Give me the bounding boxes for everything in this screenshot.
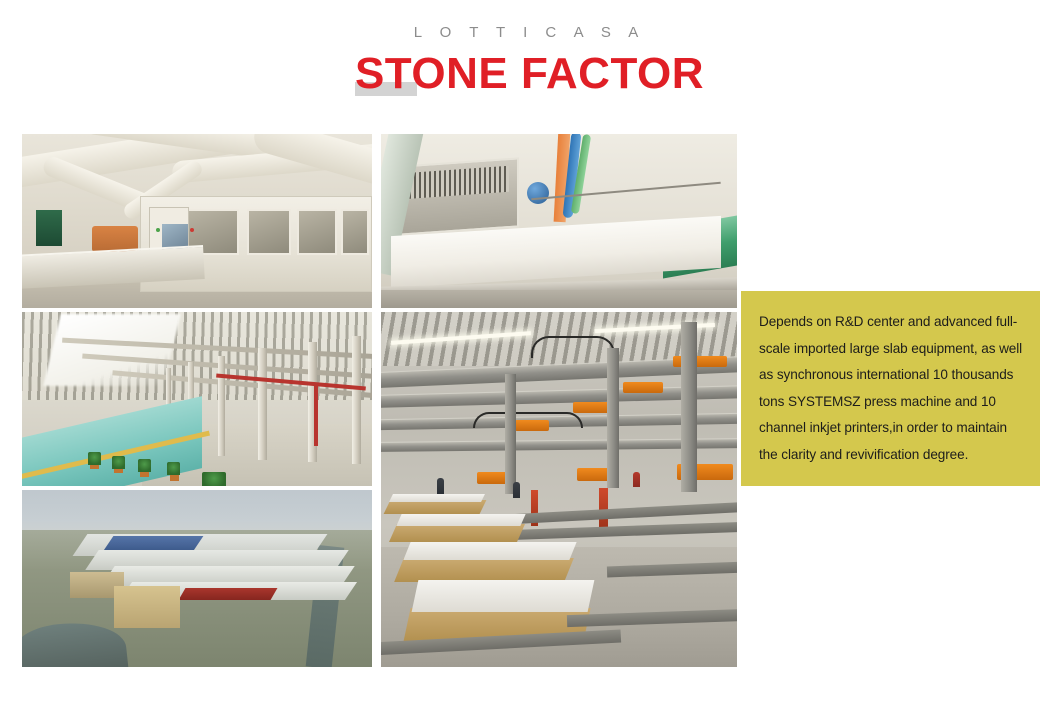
photo-factory-hall-scene xyxy=(22,312,372,486)
photo-slab-conveyor xyxy=(381,134,737,308)
title-inner: STONE FACTOR xyxy=(355,48,704,100)
brand-eyebrow: L O T T I C A S A xyxy=(0,24,1059,41)
photo-slab-conveyor-scene xyxy=(381,134,737,308)
photo-production-line xyxy=(22,134,372,308)
photo-gantry-slab-handling-scene xyxy=(381,312,737,667)
caption-box: Depends on R&D center and advanced full-… xyxy=(741,291,1040,486)
photo-factory-hall xyxy=(22,312,372,486)
photo-aerial-view-scene xyxy=(22,490,372,667)
photo-aerial-view xyxy=(22,490,372,667)
slide-canvas: L O T T I C A S A STONE FACTOR xyxy=(0,0,1059,716)
page-title: STONE FACTOR xyxy=(355,49,704,98)
photo-production-line-scene xyxy=(22,134,372,308)
page-title-wrap: STONE FACTOR xyxy=(0,48,1059,100)
photo-gantry-slab-handling xyxy=(381,312,737,667)
caption-text: Depends on R&D center and advanced full-… xyxy=(759,309,1024,468)
